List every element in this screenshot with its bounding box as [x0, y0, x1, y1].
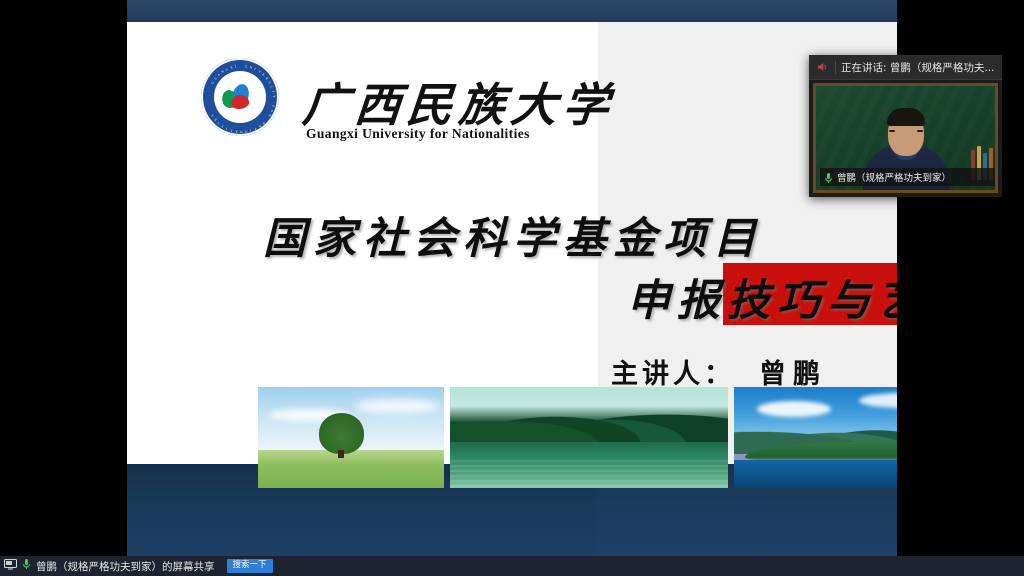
photo-lakeside-forest [450, 387, 728, 488]
slide-canvas: GUANGXI UNIVERSITY FOR NATIONALITIES 广西民… [127, 22, 897, 556]
university-name-english: Guangxi University for Nationalities [306, 126, 530, 142]
taskbar-action-button[interactable]: 搜索一下 [227, 559, 273, 573]
presenter-label: 主讲人： [611, 359, 735, 389]
presentation-top-bar [127, 0, 897, 22]
share-taskbar[interactable]: 曾鹏（规格严格功夫到家）的屏幕共享 搜索一下 [0, 556, 1024, 576]
participant-name: 曾鹏（规格严格功夫到家） [837, 170, 951, 184]
header-divider [835, 61, 836, 74]
photo-strip [258, 387, 897, 488]
microphone-icon[interactable] [22, 557, 31, 575]
slide-title-line-2-plain: 申报 [627, 278, 727, 325]
taskbar-left-group: 曾鹏（规格严格功夫到家）的屏幕共享 搜索一下 [0, 556, 273, 576]
video-panel-header[interactable]: 正在讲话: 曾鹏（规格严格功夫... [809, 55, 1002, 80]
shared-screen-region: GUANGXI UNIVERSITY FOR NATIONALITIES 广西民… [127, 0, 897, 556]
participant-name-bar: 曾鹏（规格严格功夫到家） [820, 168, 998, 186]
letterbox-left [0, 0, 127, 556]
monitor-share-icon[interactable] [4, 557, 17, 575]
screen-root: GUANGXI UNIVERSITY FOR NATIONALITIES 广西民… [0, 0, 1024, 576]
slide-title-line-1: 国家社会科学基金项目 [263, 204, 763, 266]
photo-meadow-tree [258, 387, 444, 488]
microphone-icon [824, 171, 833, 183]
presenter-line: 主讲人：曾鹏 [611, 352, 827, 391]
presenter-name: 曾鹏 [759, 359, 827, 389]
university-seal-icon: GUANGXI UNIVERSITY FOR NATIONALITIES [201, 58, 279, 136]
seal-ribbon-icon [220, 82, 260, 112]
slide-title-line-2-highlight: 技巧与艺术 [727, 278, 897, 325]
seal-inner [214, 71, 266, 123]
video-feed[interactable]: 曾鹏（规格严格功夫到家） [813, 83, 998, 193]
share-status-text: 曾鹏（规格严格功夫到家）的屏幕共享 [36, 559, 215, 574]
photo-guilin-karst [734, 387, 897, 488]
active-speaker-video-panel[interactable]: 正在讲话: 曾鹏（规格严格功夫... [809, 55, 1002, 197]
active-speaker-label: 正在讲话: 曾鹏（规格严格功夫... [841, 60, 994, 75]
speaker-icon [812, 55, 832, 79]
slide-title-line-2: 申报技巧与艺术 [627, 266, 897, 328]
